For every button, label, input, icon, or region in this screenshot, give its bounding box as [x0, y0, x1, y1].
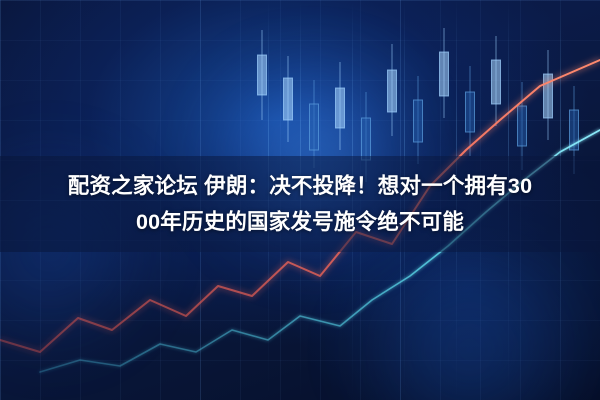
- headline-line-1: 配资之家论坛 伊朗：决不投降！想对一个拥有30: [68, 168, 533, 204]
- image-canvas: 配资之家论坛 伊朗：决不投降！想对一个拥有30 00年历史的国家发号施令绝不可能: [0, 0, 600, 400]
- headline-line-2: 00年历史的国家发号施令绝不可能: [136, 204, 464, 240]
- headline-text: 配资之家论坛 伊朗：决不投降！想对一个拥有30 00年历史的国家发号施令绝不可能: [0, 156, 600, 252]
